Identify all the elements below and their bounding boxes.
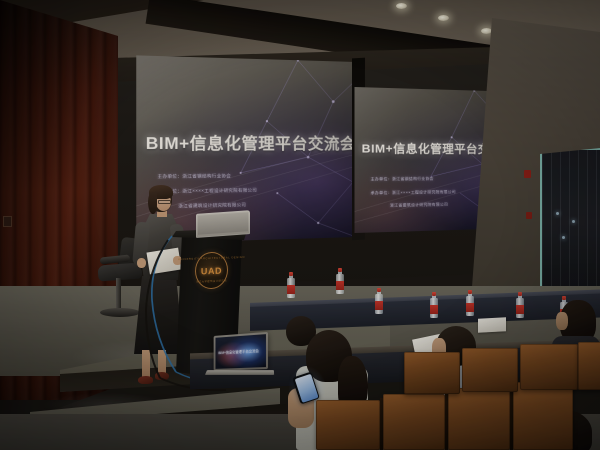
window-panel	[540, 148, 600, 296]
office-chair-post	[116, 278, 121, 312]
speaker-hand	[137, 258, 146, 268]
auditorium-seat[interactable]	[383, 394, 445, 450]
bottle-label	[375, 301, 383, 310]
wall-switch[interactable]	[3, 216, 12, 227]
bottle-label	[466, 303, 474, 312]
auditorium-seat[interactable]	[316, 400, 380, 450]
ceiling-spotlight	[438, 15, 449, 21]
bottle-label	[516, 305, 524, 314]
laptop-screen: BIM+信息化管理平台交流会	[215, 334, 265, 369]
window-reflection	[562, 236, 565, 239]
window-reflection	[572, 220, 575, 223]
speaker-shoe	[155, 372, 169, 380]
water-bottle[interactable]	[287, 272, 295, 298]
laptop-keyboard[interactable]	[205, 370, 274, 375]
water-bottle[interactable]	[430, 292, 438, 318]
bottle-label	[336, 281, 344, 290]
auditorium-seat[interactable]	[578, 342, 600, 390]
auditorium-seat[interactable]	[520, 344, 578, 390]
auditorium-seat[interactable]	[404, 352, 460, 394]
podium-laptop-screen	[198, 212, 248, 234]
auditorium-seat[interactable]	[513, 382, 573, 450]
speaker-hair	[148, 192, 157, 214]
slide-subtitle-1: 主办单位：浙江省钢结构行业协会	[371, 177, 434, 183]
bottle-cap	[289, 272, 294, 276]
water-bottle[interactable]	[336, 268, 344, 294]
alarm-device	[526, 212, 532, 219]
bottle-label	[430, 305, 438, 314]
slide-subtitle-3: 浙江省建筑设计研究院有限公司	[178, 202, 246, 210]
ceiling-spotlight	[481, 28, 492, 34]
podium-laptop[interactable]	[196, 210, 250, 238]
uad-logo-text: UAD	[201, 265, 222, 276]
window-reflection	[556, 212, 559, 215]
laptop[interactable]: BIM+信息化管理平台交流会	[214, 332, 268, 371]
auditorium-seat[interactable]	[448, 388, 510, 450]
bottle-cap	[468, 290, 473, 294]
conference-hall-photo: BIM+信息化管理平台交流会 主办单位：浙江省钢结构行业协会 承办单位：浙江××…	[0, 0, 600, 450]
office-chair-base	[100, 308, 140, 317]
glasses-icon	[158, 200, 171, 204]
auditorium-seat[interactable]	[462, 348, 518, 392]
slide-subtitle-1: 主办单位：浙江省钢结构行业协会	[157, 173, 231, 180]
water-bottle[interactable]	[466, 290, 474, 316]
audience-person-face	[556, 312, 568, 330]
speaker-skirt	[134, 276, 184, 354]
speaker-shoe	[138, 376, 153, 384]
bottle-label	[287, 285, 295, 294]
bottle-cap	[518, 292, 523, 296]
bottle-cap	[562, 296, 567, 300]
water-bottle[interactable]	[375, 288, 383, 314]
window-blinds	[542, 150, 600, 296]
laptop-screen-title: BIM+信息化管理平台交流会	[218, 348, 259, 355]
bottle-cap	[377, 288, 382, 292]
uad-logo-sub-text: 浙江大学建筑设计研究院	[196, 278, 227, 283]
bottle-cap	[432, 292, 437, 296]
slide-title: BIM+信息化管理平台交流会	[146, 131, 356, 155]
ceiling-spotlight	[396, 3, 407, 9]
desk-paper	[478, 317, 506, 332]
water-bottle[interactable]	[516, 292, 524, 318]
bottle-cap	[338, 268, 343, 272]
alarm-device	[524, 170, 531, 178]
